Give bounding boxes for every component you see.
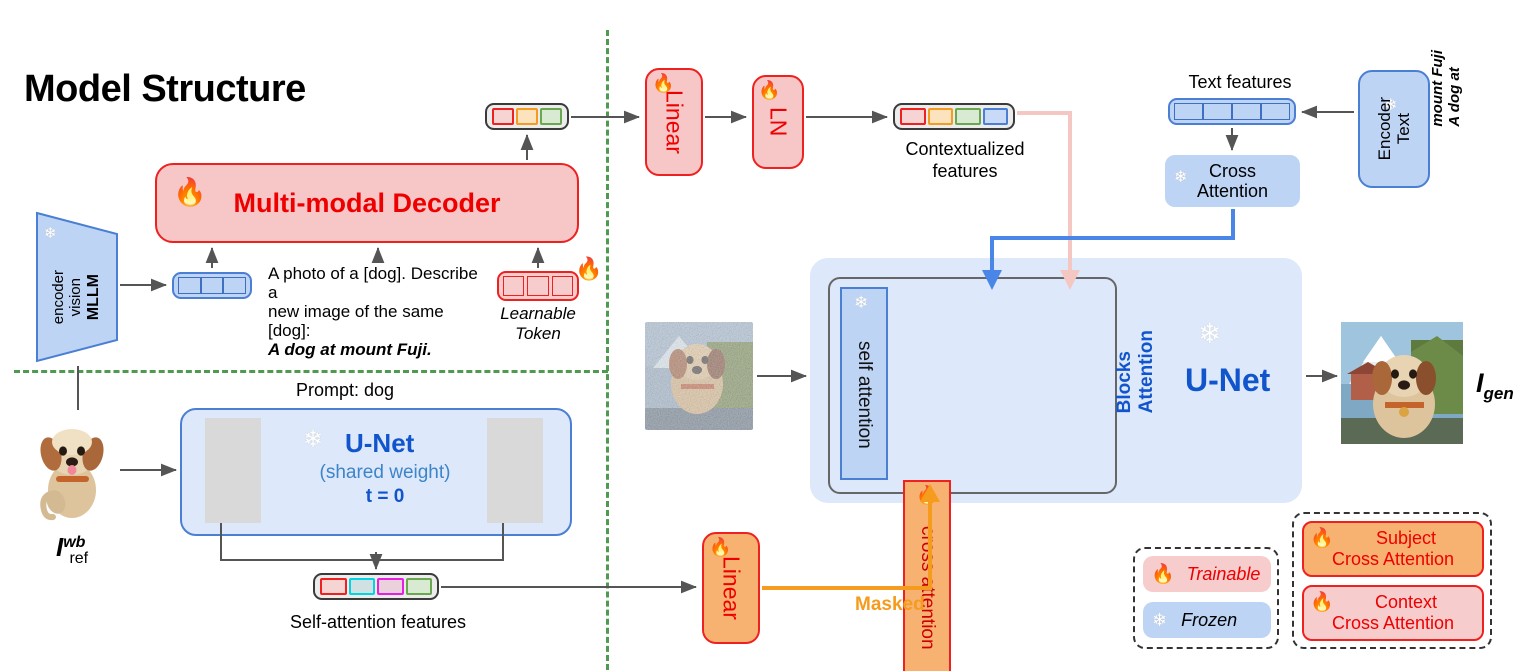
learnable-token-label-2: Token <box>487 324 589 343</box>
bottom-prompt-caption: Prompt: dog <box>250 380 440 400</box>
vertical-divider <box>606 30 609 670</box>
generated-image-label: Igen <box>1476 368 1514 399</box>
text-encoder-block[interactable]: ❄ Encoder Text <box>1358 70 1430 188</box>
text-cross-attention-line-1: Cross <box>1209 161 1256 181</box>
prompt-line-3: A dog at mount Fuji. <box>268 340 488 359</box>
noisy-input-image <box>645 322 753 430</box>
token-orange <box>928 108 954 125</box>
learnable-token <box>527 276 548 296</box>
legend-trainable-label: Trainable <box>1187 564 1261 584</box>
text-encoder-line-2: Encoder <box>1375 97 1394 160</box>
token-red <box>492 108 514 125</box>
flame-icon: 🔥 <box>758 81 780 99</box>
image-token <box>223 277 246 294</box>
token-magenta <box>377 578 404 595</box>
legend-trainable: 🔥 Trainable <box>1143 556 1271 592</box>
masked-linear-block[interactable]: 🔥 Linear <box>702 532 760 644</box>
snowflake-icon: ❄ <box>854 294 868 311</box>
learnable-token <box>503 276 524 296</box>
attention-column-self-attention[interactable]: ❄ self attention <box>840 287 888 480</box>
reference-image <box>36 418 108 523</box>
contextualized-features-strip <box>893 103 1015 130</box>
shared-unet-sub-1: (shared weight) <box>290 462 480 484</box>
text-feature-token <box>1261 103 1290 120</box>
token-orange <box>516 108 538 125</box>
vision-encoder-line-3: encoder <box>51 270 68 324</box>
legend-context-line-1: Context <box>1375 592 1437 613</box>
attention-column-label: cross attention <box>916 526 938 650</box>
token-green <box>955 108 981 125</box>
self-attention-features-strip <box>313 573 439 600</box>
image-token <box>178 277 201 294</box>
text-feature-token <box>1203 103 1232 120</box>
vision-encoder-line-2: vision <box>68 278 85 316</box>
learnable-token-label-1: Learnable <box>487 304 589 323</box>
learnable-token-strip <box>497 271 579 301</box>
linear-projection-block[interactable]: 🔥 Linear <box>645 68 703 176</box>
horizontal-divider <box>14 370 608 373</box>
text-feature-token <box>1174 103 1203 120</box>
page-title: Model Structure <box>24 68 306 111</box>
attention-blocks-line-2: Blocks <box>1114 330 1136 413</box>
flame-icon: 🔥 <box>575 258 602 280</box>
legend-frozen: ❄ Frozen <box>1143 602 1271 638</box>
igen-base: I <box>1476 368 1484 398</box>
legend-context-cross-attention: 🔥 Context Cross Attention <box>1302 585 1484 641</box>
contextualized-caption-2: features <box>895 161 1035 181</box>
flame-icon: 🔥 <box>1310 529 1334 548</box>
image-token <box>201 277 224 294</box>
prompt-line-1: A photo of a [dog]. Describe a <box>268 264 488 302</box>
igen-sub: gen <box>1484 384 1514 403</box>
flame-icon: 🔥 <box>1151 565 1175 584</box>
image-token-strip <box>172 272 252 299</box>
token-green <box>540 108 562 125</box>
text-feature-token <box>1232 103 1261 120</box>
unet-main-label: U-Net <box>1185 362 1270 399</box>
text-prompt-line-2: mount Fuji <box>1430 50 1447 127</box>
token-red <box>900 108 926 125</box>
linear-label: Linear <box>661 90 688 154</box>
shared-unet-block-right <box>487 418 543 523</box>
attention-blocks-line-1: Attention <box>1136 330 1158 413</box>
ln-label: LN <box>765 107 792 136</box>
shared-unet-sub-2: t = 0 <box>290 486 480 508</box>
snowflake-icon: ❄ <box>303 428 323 452</box>
text-cross-attention-block[interactable]: ❄ Cross Attention <box>1165 155 1300 207</box>
legend-subject-line-2: Cross Attention <box>1332 549 1454 570</box>
flame-icon: 🔥 <box>709 538 731 556</box>
flame-icon: 🔥 <box>652 74 674 92</box>
decoder-output-token-strip <box>485 103 569 130</box>
diagram-canvas: Model Structure ❄ encoder vision MLLM A … <box>0 0 1530 671</box>
prompt-text-block: A photo of a [dog]. Describe a new image… <box>268 264 488 359</box>
shared-unet-block-left <box>205 418 261 523</box>
token-green <box>406 578 433 595</box>
legend-frozen-label: Frozen <box>1181 610 1237 630</box>
snowflake-icon: ❄ <box>1174 170 1187 186</box>
snowflake-icon: ❄ <box>1198 320 1221 348</box>
token-blue <box>983 108 1009 125</box>
text-prompt-line-1: A dog at <box>1447 50 1464 127</box>
text-cross-attention-line-2: Attention <box>1197 181 1268 201</box>
multimodal-decoder[interactable]: 🔥 Multi-modal Decoder <box>155 163 579 243</box>
shared-unet-label: U-Net <box>345 428 414 459</box>
iref-sub: ref <box>69 550 88 567</box>
masked-linear-label: Linear <box>718 556 745 620</box>
flame-icon: 🔥 <box>173 179 207 206</box>
legend-context-line-2: Cross Attention <box>1332 613 1454 634</box>
text-features-caption: Text features <box>1160 72 1320 92</box>
generated-image <box>1341 322 1463 444</box>
token-cyan <box>349 578 376 595</box>
layer-norm-block[interactable]: 🔥 LN <box>752 75 804 169</box>
contextualized-caption-1: Contextualized <box>895 139 1035 159</box>
legend-subject-cross-attention: 🔥 Subject Cross Attention <box>1302 521 1484 577</box>
text-features-strip <box>1168 98 1296 125</box>
iref-sup: wb <box>63 534 85 551</box>
text-prompt-rotated: mount Fuji A dog at <box>1430 50 1530 160</box>
flame-icon: 🔥 <box>916 486 938 504</box>
attention-column-label: self attention <box>853 341 875 449</box>
prompt-line-2: new image of the same [dog]: <box>268 302 488 340</box>
multimodal-decoder-label: Multi-modal Decoder <box>233 188 500 219</box>
mllm-vision-encoder: ❄ encoder vision MLLM <box>36 208 118 366</box>
flame-icon: 🔥 <box>1310 593 1334 612</box>
vision-encoder-line-1: MLLM <box>85 274 103 320</box>
text-encoder-line-1: Text <box>1394 113 1413 144</box>
legend-subject-line-1: Subject <box>1376 528 1436 549</box>
attention-blocks-label: Blocks Attention <box>1114 330 1158 413</box>
attention-column-subject-cross-attention[interactable]: 🔥 cross attention <box>903 480 951 671</box>
reference-image-label: Iwbref <box>56 532 104 563</box>
snowflake-icon: ❄ <box>1152 611 1167 629</box>
token-red <box>320 578 347 595</box>
self-attention-features-caption: Self-attention features <box>275 612 481 632</box>
learnable-token <box>552 276 573 296</box>
masked-label: Masked <box>855 594 925 616</box>
